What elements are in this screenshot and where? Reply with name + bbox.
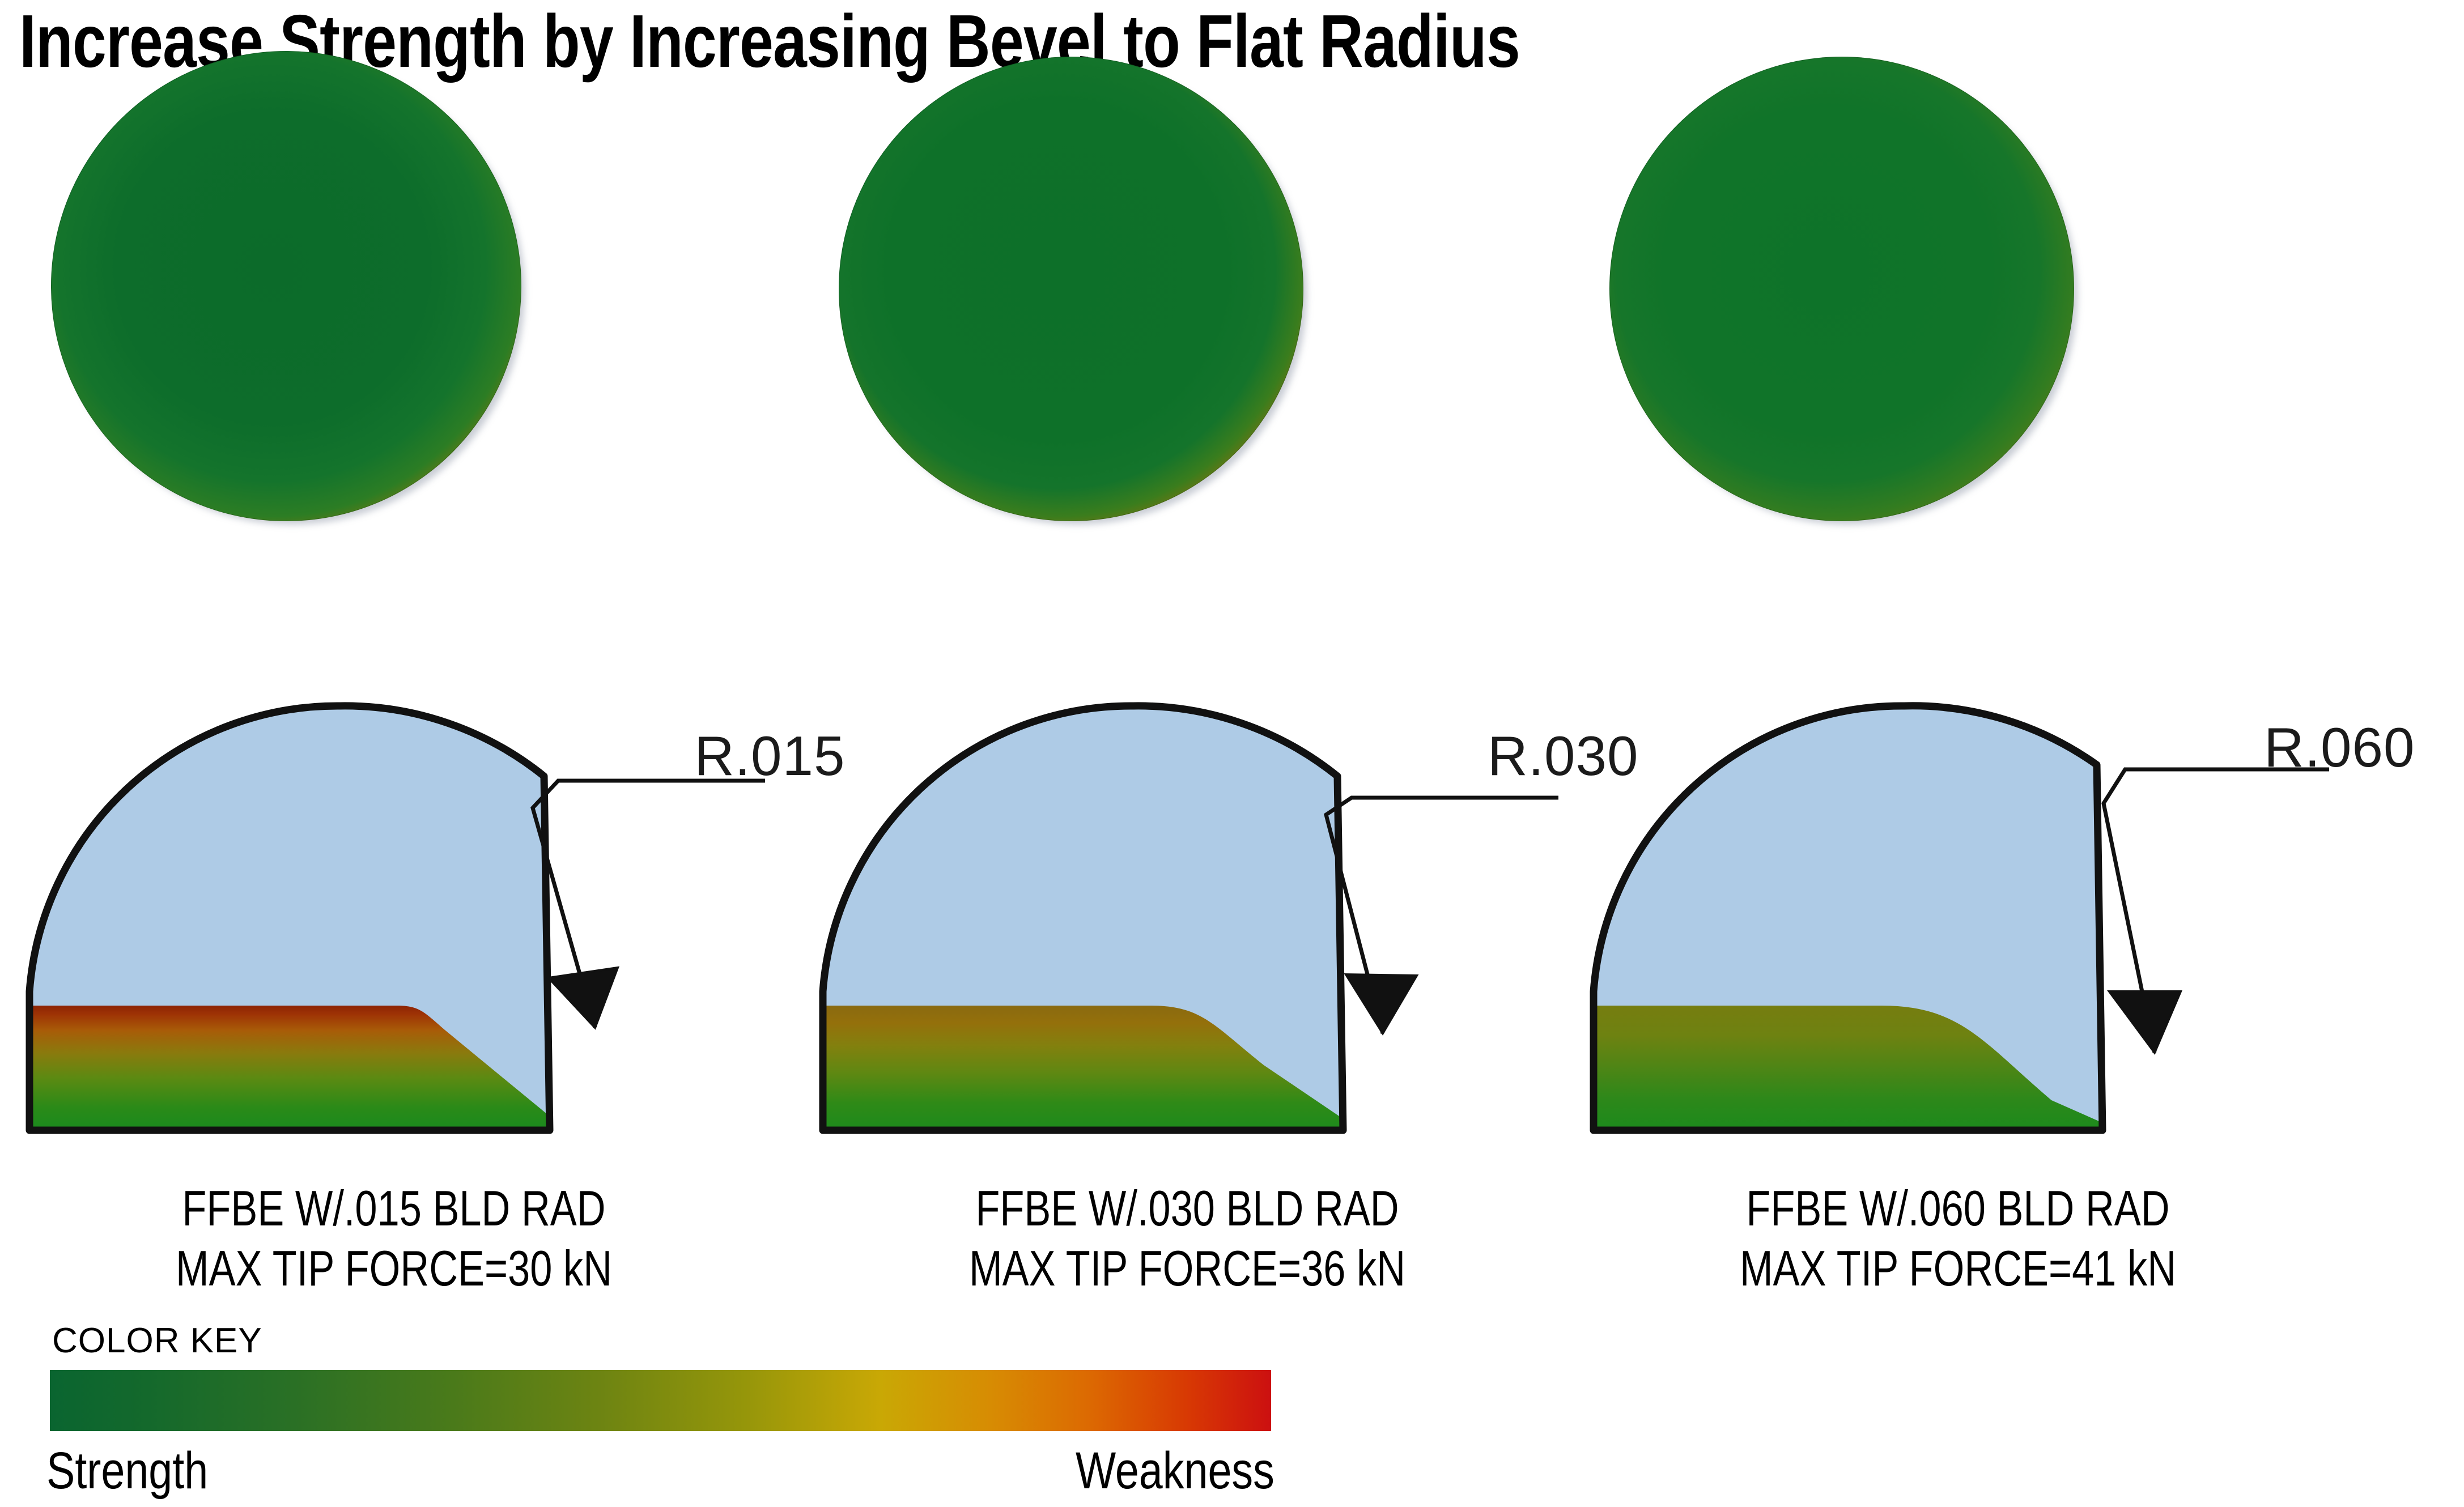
circle-edge-shading	[839, 57, 1303, 521]
leader-line-015	[533, 781, 765, 1028]
panel-015: R.015 FFBE W/.015 BLD RAD MAX TIP FORCE=…	[17, 0, 771, 1297]
leader-line-030	[1326, 798, 1558, 1033]
radius-label-060: R.060	[2264, 720, 2415, 775]
color-key: COLOR KEY Strength Weakness	[50, 1323, 1274, 1507]
caption-line-2: MAX TIP FORCE=41 kN	[1656, 1238, 2259, 1299]
circle-edge-shading	[1609, 57, 2074, 521]
cross-section-060	[1587, 697, 2335, 1156]
leader-arrowhead	[2109, 991, 2181, 1053]
caption-060: FFBE W/.060 BLD RAD MAX TIP FORCE=41 kN	[1581, 1178, 2335, 1298]
panel-030: R.030 FFBE W/.030 BLD RAD MAX TIP FORCE=…	[810, 0, 1564, 1297]
caption-line-2: MAX TIP FORCE=36 kN	[886, 1238, 1489, 1299]
color-key-low-label: Strength	[46, 1445, 208, 1497]
cross-section-030	[816, 697, 1564, 1156]
leader-arrowhead	[549, 968, 618, 1028]
caption-030: FFBE W/.030 BLD RAD MAX TIP FORCE=36 kN	[810, 1178, 1564, 1298]
fea-contour-circle-015	[51, 51, 521, 521]
caption-015: FFBE W/.015 BLD RAD MAX TIP FORCE=30 kN	[17, 1178, 771, 1298]
caption-line-1: FFBE W/.060 BLD RAD	[1656, 1178, 2259, 1238]
caption-line-1: FFBE W/.015 BLD RAD	[92, 1178, 695, 1238]
leader-line-060	[2104, 769, 2329, 1053]
caption-line-2: MAX TIP FORCE=30 kN	[92, 1238, 695, 1299]
fea-contour-circle-060	[1609, 57, 2074, 521]
circle-edge-shading	[51, 51, 521, 521]
color-key-labels: Strength Weakness	[50, 1445, 1271, 1507]
cross-section-015	[23, 697, 771, 1156]
leader-arrowhead	[1346, 974, 1417, 1033]
color-key-gradient-bar	[50, 1370, 1271, 1431]
color-key-title: COLOR KEY	[52, 1323, 1274, 1359]
illustration-canvas: Increase Strength by Increasing Bevel to…	[0, 0, 2464, 1488]
panel-060: R.060 FFBE W/.060 BLD RAD MAX TIP FORCE=…	[1581, 0, 2335, 1297]
caption-line-1: FFBE W/.030 BLD RAD	[886, 1178, 1489, 1238]
color-key-high-label: Weakness	[1076, 1445, 1275, 1497]
fea-contour-circle-030	[839, 57, 1303, 521]
